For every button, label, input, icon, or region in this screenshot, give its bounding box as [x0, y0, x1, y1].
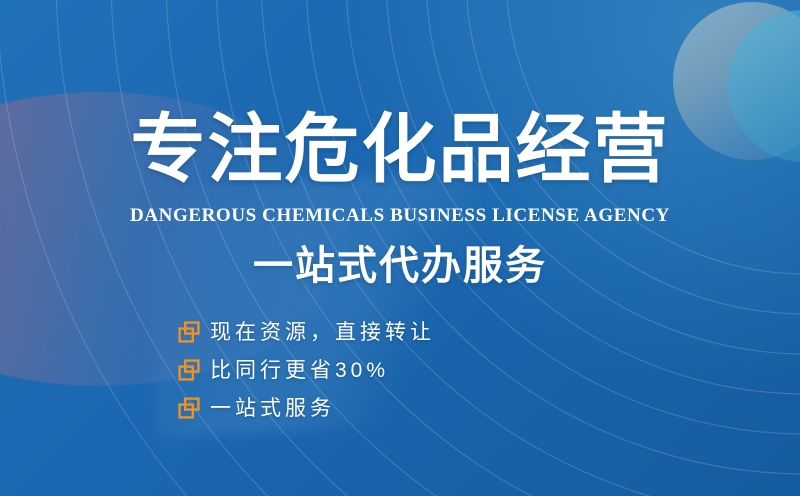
feature-label: 现在资源，直接转让 [210, 322, 435, 343]
feature-item: 现在资源，直接转让 [178, 318, 435, 346]
overlapping-squares-icon [178, 321, 200, 343]
overlapping-squares-icon [178, 359, 200, 381]
banner-english-tagline: Dangerous Chemicals Business License Age… [0, 206, 800, 225]
feature-label: 一站式服务 [210, 398, 335, 419]
promo-banner: 专注危化品经营 Dangerous Chemicals Business Lic… [0, 0, 800, 496]
banner-subheadline: 一站式代办服务 [0, 246, 800, 286]
feature-list: 现在资源，直接转让 比同行更省30% 一站式服务 [178, 318, 435, 422]
feature-label: 比同行更省30% [210, 360, 389, 381]
feature-item: 比同行更省30% [178, 356, 435, 384]
feature-item: 一站式服务 [178, 394, 435, 422]
banner-content: 专注危化品经营 Dangerous Chemicals Business Lic… [0, 0, 800, 496]
overlapping-squares-icon [178, 397, 200, 419]
banner-headline: 专注危化品经营 [0, 112, 800, 187]
